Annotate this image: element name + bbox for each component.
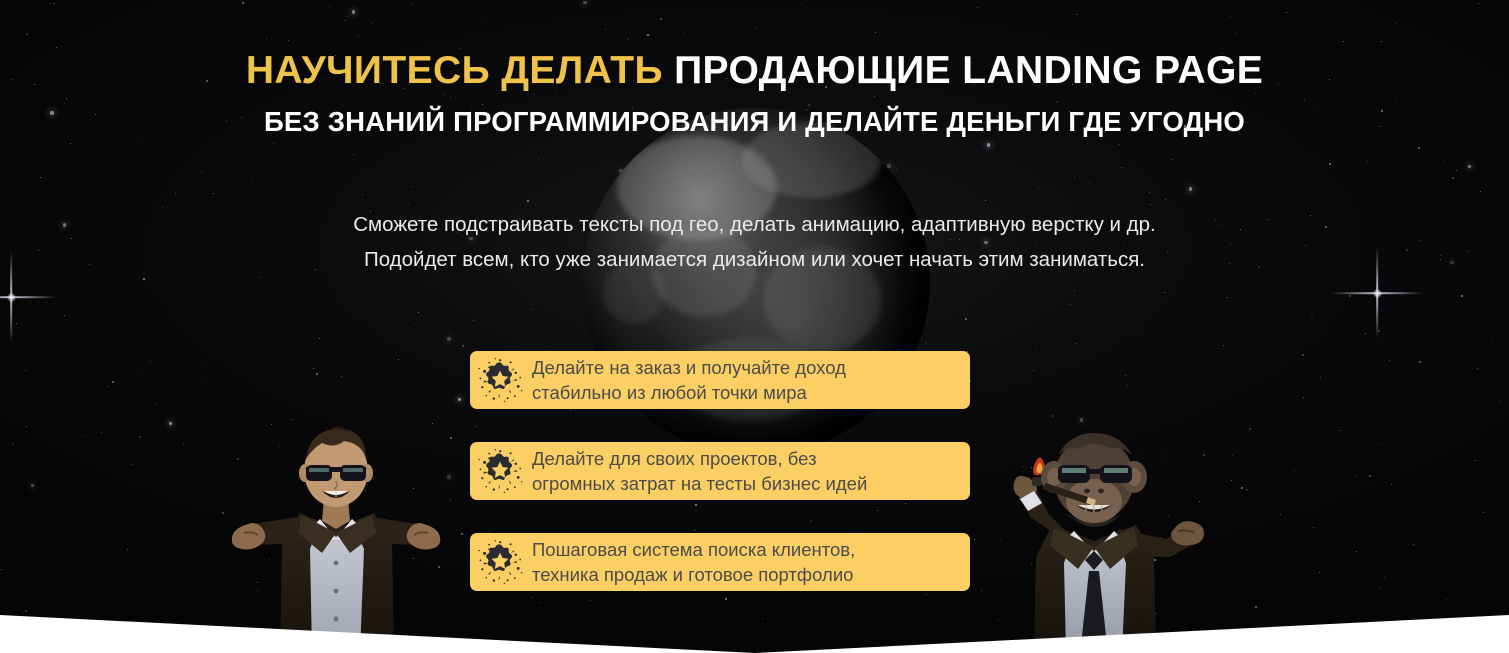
star-splatter-icon [476,356,524,404]
star-flare-left-icon [10,296,12,298]
benefit-text-1: Делайте на заказ и получайте доход стаби… [532,355,846,405]
lead-line-2: Подойдет всем, кто уже занимается дизайн… [0,242,1509,277]
star-splatter-icon [476,447,524,495]
page-title: НАУЧИТЕСЬ ДЕЛАТЬ ПРОДАЮЩИЕ LANDING PAGE [0,48,1509,94]
benefit-text-3: Пошаговая система поиска клиентов, техни… [532,537,855,587]
benefit-item-3[interactable]: Пошаговая система поиска клиентов, техни… [470,533,970,591]
page-title-accent: НАУЧИТЕСЬ ДЕЛАТЬ [246,49,663,92]
hero-section: НАУЧИТЕСЬ ДЕЛАТЬ ПРОДАЮЩИЕ LANDING PAGE … [0,0,1509,653]
page-title-rest: ПРОДАЮЩИЕ LANDING PAGE [663,49,1263,92]
hero-lead-paragraph: Сможете подстраивать тексты под гео, дел… [0,207,1509,277]
bottom-white-chevron [0,593,1509,653]
hero-headings: НАУЧИТЕСЬ ДЕЛАТЬ ПРОДАЮЩИЕ LANDING PAGE … [0,48,1509,139]
page-subtitle: БЕЗ ЗНАНИЙ ПРОГРАММИРОВАНИЯ И ДЕЛАЙТЕ ДЕ… [0,105,1509,139]
benefit-list: Делайте на заказ и получайте доход стаби… [470,351,970,591]
benefit-item-2[interactable]: Делайте для своих проектов, без огромных… [470,442,970,500]
star-splatter-icon [476,538,524,586]
benefit-item-1[interactable]: Делайте на заказ и получайте доход стаби… [470,351,970,409]
lead-line-1: Сможете подстраивать тексты под гео, дел… [0,207,1509,242]
benefit-text-2: Делайте для своих проектов, без огромных… [532,446,867,496]
star-flare-right-icon [1376,292,1378,294]
